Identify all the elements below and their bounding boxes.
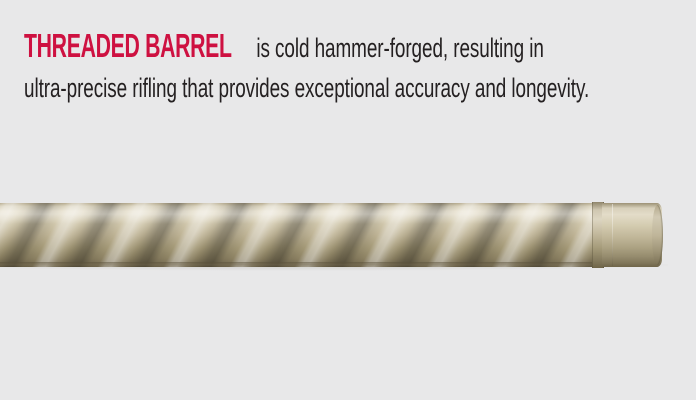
caption-line-1-rest: is cold hammer-forged, resulting in [251, 33, 544, 63]
caption-block: THREADED BARREL is cold hammer-forged, r… [24, 26, 676, 108]
barrel-image [0, 202, 663, 268]
barrel-fluted-section [0, 203, 600, 267]
caption-line-2: ultra-precise rifling that provides exce… [24, 68, 677, 108]
headline-threaded-barrel: THREADED BARREL [24, 26, 233, 66]
feature-callout-panel: THREADED BARREL is cold hammer-forged, r… [0, 0, 696, 400]
muzzle-crown-cap [652, 205, 663, 265]
caption-line-1: THREADED BARREL is cold hammer-forged, r… [24, 26, 677, 68]
muzzle-relief-line [612, 204, 613, 266]
